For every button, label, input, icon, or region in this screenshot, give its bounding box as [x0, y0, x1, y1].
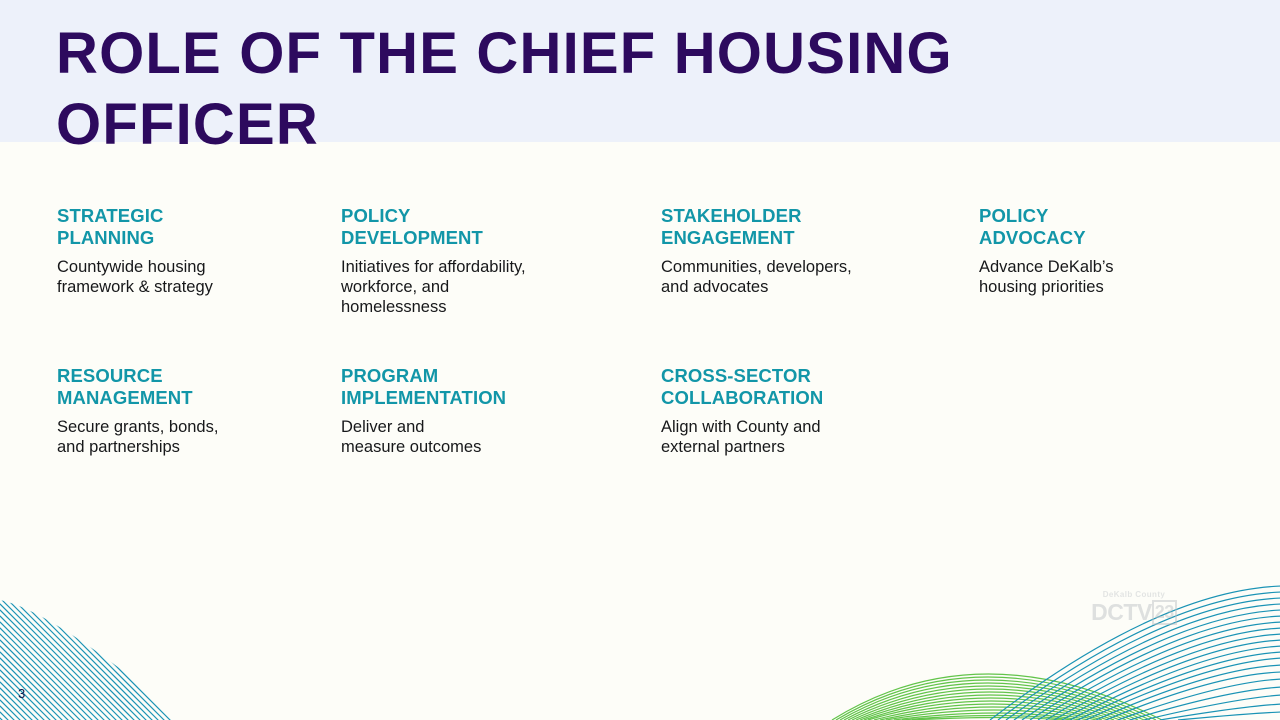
responsibility-card-empty — [979, 365, 1247, 374]
title-band: Role of the Chief Housing Officer — [0, 0, 1280, 142]
card-body: Countywide housing framework & strategy — [57, 258, 325, 297]
card-heading: Stakeholder Engagement — [661, 205, 951, 249]
slide-canvas: Role of the Chief Housing Officer Strate… — [0, 0, 1280, 720]
card-heading: Resource Management — [57, 365, 325, 409]
decorative-wave-bottom-left — [0, 600, 230, 720]
card-body: Secure grants, bonds, and partnerships — [57, 418, 325, 457]
card-body: Deliver and measure outcomes — [341, 418, 609, 457]
responsibility-card-resource-management: Resource Management Secure grants, bonds… — [57, 365, 325, 458]
wave-stripes-left — [0, 600, 230, 720]
card-body: Initiatives for affordability, workforce… — [341, 258, 609, 317]
card-heading: Policy Development — [341, 205, 609, 249]
responsibility-card-cross-sector-collaboration: Cross-Sector Collaboration Align with Co… — [661, 365, 951, 458]
responsibility-card-strategic-planning: Strategic Planning Countywide housing fr… — [57, 205, 325, 298]
logo-name-text: DCTV — [1091, 599, 1152, 625]
card-heading: Cross-Sector Collaboration — [661, 365, 951, 409]
decorative-wave-bottom-right — [830, 580, 1280, 720]
responsibility-card-program-implementation: Program Implementation Deliver and measu… — [341, 365, 609, 458]
card-heading: Strategic Planning — [57, 205, 325, 249]
card-body: Align with County and external partners — [661, 418, 951, 457]
logo-channel-number: 23 — [1152, 600, 1177, 625]
responsibility-card-policy-development: Policy Development Initiatives for affor… — [341, 205, 609, 317]
logo-county-text: DeKalb County — [1078, 590, 1190, 599]
card-body: Communities, developers, and advocates — [661, 258, 951, 297]
wave-arcs-green — [832, 674, 1162, 720]
card-heading: Program Implementation — [341, 365, 609, 409]
card-body: Advance DeKalb’s housing priorities — [979, 258, 1247, 297]
grid-row: Strategic Planning Countywide housing fr… — [0, 205, 1280, 365]
responsibilities-grid: Strategic Planning Countywide housing fr… — [0, 205, 1280, 525]
dctv-logo-watermark: DeKalb County DCTV23 — [1078, 590, 1190, 634]
grid-row: Resource Management Secure grants, bonds… — [0, 365, 1280, 525]
responsibility-card-stakeholder-engagement: Stakeholder Engagement Communities, deve… — [661, 205, 951, 298]
page-number: 3 — [18, 686, 25, 701]
responsibility-card-policy-advocacy: Policy Advocacy Advance DeKalb’s housing… — [979, 205, 1247, 298]
logo-channel: DCTV23 — [1078, 599, 1190, 626]
card-heading: Policy Advocacy — [979, 205, 1247, 249]
page-title: Role of the Chief Housing Officer — [56, 19, 1176, 161]
